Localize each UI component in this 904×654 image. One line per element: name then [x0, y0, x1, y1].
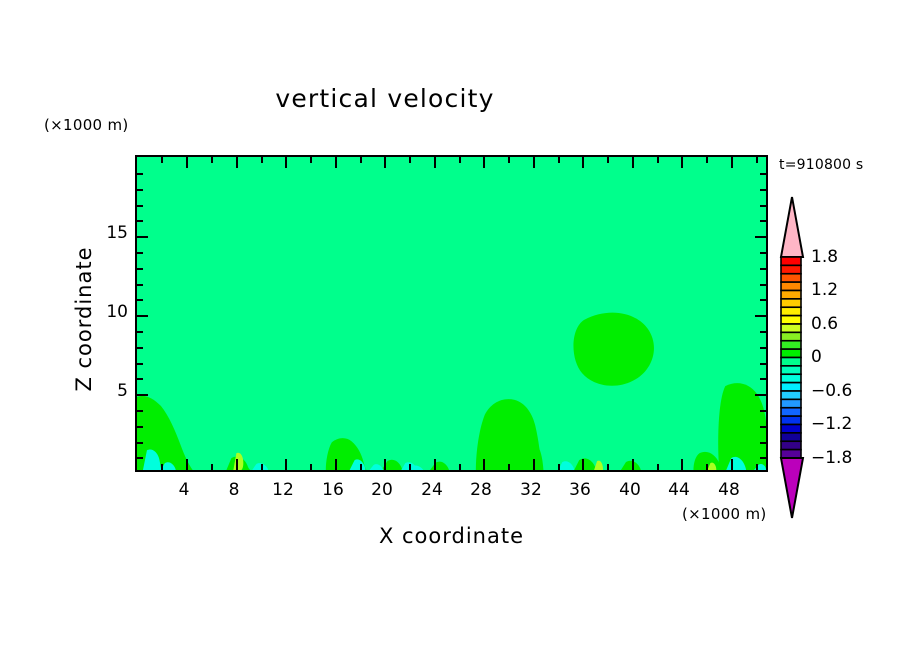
x-tick-major — [335, 459, 337, 470]
x-tick-major — [384, 459, 386, 470]
y-tick-minor — [137, 268, 143, 270]
colorbar-label: 1.8 — [811, 247, 838, 267]
y-tick-minor — [137, 220, 143, 222]
colorbar-swatch — [781, 358, 801, 366]
x-tick-major — [186, 459, 188, 470]
y-tick-minor — [137, 252, 143, 254]
y-tick-right-major — [755, 394, 766, 396]
x-tick-major — [483, 459, 485, 470]
y-tick-right-minor — [760, 378, 766, 380]
x-tick-top-minor — [508, 157, 510, 163]
colorbar-swatch — [781, 408, 801, 416]
y-axis-title: Z coordinate — [72, 189, 96, 449]
contour-field — [137, 157, 766, 470]
x-tick-major — [285, 459, 287, 470]
x-axis-title: X coordinate — [135, 524, 768, 548]
colorbar-swatch — [781, 374, 801, 382]
x-tick-minor — [756, 464, 758, 470]
colorbar-label: −1.8 — [811, 448, 852, 468]
y-tick-right-minor — [760, 252, 766, 254]
x-tick-minor — [706, 464, 708, 470]
y-tick-right-minor — [760, 268, 766, 270]
y-tick-minor — [137, 347, 143, 349]
x-tick-top-major — [186, 157, 188, 168]
colorbar-swatch — [781, 441, 801, 449]
y-tick-minor — [137, 173, 143, 175]
y-tick-major — [137, 236, 148, 238]
colorbar-swatch — [781, 282, 801, 290]
colorbar-swatch — [781, 399, 801, 407]
y-tick-right-minor — [760, 331, 766, 333]
colorbar-label: 1.2 — [811, 280, 838, 300]
y-tick-minor — [137, 205, 143, 207]
colorbar-label: 0 — [811, 347, 822, 367]
plot-area — [135, 155, 768, 472]
x-tick-minor — [657, 464, 659, 470]
y-tick-minor — [137, 426, 143, 428]
x-tick-minor — [607, 464, 609, 470]
x-axis-unit-label: (×1000 m) — [682, 505, 767, 523]
colorbar-swatch — [781, 316, 801, 324]
x-tick-major — [681, 459, 683, 470]
colorbar-swatch — [781, 274, 801, 282]
x-tick-top-major — [582, 157, 584, 168]
colorbar-swatch — [781, 299, 801, 307]
x-tick-top-major — [731, 157, 733, 168]
colorbar-label: −0.6 — [811, 381, 852, 401]
y-tick-right-minor — [760, 410, 766, 412]
x-tick-top-minor — [261, 157, 263, 163]
y-tick-right-major — [755, 315, 766, 317]
y-tick-right-minor — [760, 347, 766, 349]
x-tick-minor — [409, 464, 411, 470]
colorbar-swatch — [781, 450, 801, 458]
x-tick-top-minor — [558, 157, 560, 163]
x-tick-minor — [310, 464, 312, 470]
y-tick-right-minor — [760, 284, 766, 286]
colorbar-swatch — [781, 291, 801, 299]
y-tick-minor — [137, 331, 143, 333]
y-tick-minor — [137, 299, 143, 301]
x-tick-top-minor — [360, 157, 362, 163]
y-tick-major — [137, 315, 148, 317]
colorbar-swatch — [781, 391, 801, 399]
y-tick-minor — [137, 284, 143, 286]
colorbar-swatches — [779, 195, 805, 520]
y-tick-right-minor — [760, 457, 766, 459]
colorbar-swatch — [781, 324, 801, 332]
y-tick-right-minor — [760, 220, 766, 222]
y-tick-minor — [137, 442, 143, 444]
colorbar-swatch — [781, 265, 801, 273]
x-tick-top-major — [483, 157, 485, 168]
x-tick-top-minor — [409, 157, 411, 163]
y-tick-right-minor — [760, 173, 766, 175]
y-tick-right-minor — [760, 205, 766, 207]
colorbar-swatch — [781, 425, 801, 433]
colorbar-swatch — [781, 307, 801, 315]
y-tick-right-minor — [760, 299, 766, 301]
y-tick-major — [137, 394, 148, 396]
colorbar-swatch — [781, 366, 801, 374]
colorbar-swatch — [781, 349, 801, 357]
x-tick-top-minor — [706, 157, 708, 163]
x-tick-minor — [261, 464, 263, 470]
y-tick-right-minor — [760, 426, 766, 428]
colorbar-swatch — [781, 257, 801, 265]
x-tick-top-major — [335, 157, 337, 168]
x-tick-minor — [360, 464, 362, 470]
x-tick-top-minor — [161, 157, 163, 163]
timestamp-label: t=910800 s — [779, 157, 863, 173]
x-tick-label: 48 — [699, 480, 759, 500]
colorbar-swatch — [781, 341, 801, 349]
y-tick-minor — [137, 457, 143, 459]
x-tick-minor — [558, 464, 560, 470]
y-tick-minor — [137, 189, 143, 191]
x-tick-top-major — [285, 157, 287, 168]
x-tick-major — [434, 459, 436, 470]
x-tick-minor — [211, 464, 213, 470]
y-tick-minor — [137, 363, 143, 365]
colorbar-swatch — [781, 416, 801, 424]
x-tick-major — [236, 459, 238, 470]
x-tick-major — [731, 459, 733, 470]
x-tick-top-major — [533, 157, 535, 168]
y-axis-unit-label: (×1000 m) — [44, 116, 129, 134]
y-tick-right-minor — [760, 442, 766, 444]
x-tick-top-major — [681, 157, 683, 168]
x-tick-top-major — [384, 157, 386, 168]
x-tick-top-major — [236, 157, 238, 168]
y-tick-minor — [137, 410, 143, 412]
x-tick-top-minor — [459, 157, 461, 163]
x-tick-minor — [508, 464, 510, 470]
colorbar: 1.8 1.2 0.6 0 −0.6 −1.2 −1.8 — [779, 195, 805, 520]
x-tick-major — [632, 459, 634, 470]
x-tick-major — [533, 459, 535, 470]
x-tick-top-minor — [607, 157, 609, 163]
y-tick-right-minor — [760, 363, 766, 365]
colorbar-label: 0.6 — [811, 314, 838, 334]
colorbar-swatch — [781, 433, 801, 441]
y-tick-minor — [137, 378, 143, 380]
colorbar-swatch — [781, 383, 801, 391]
x-tick-top-major — [434, 157, 436, 168]
x-tick-top-minor — [657, 157, 659, 163]
x-tick-minor — [459, 464, 461, 470]
x-tick-top-minor — [310, 157, 312, 163]
colorbar-label: −1.2 — [811, 414, 852, 434]
y-tick-right-major — [755, 236, 766, 238]
colorbar-swatch — [781, 332, 801, 340]
x-tick-top-major — [632, 157, 634, 168]
x-tick-top-minor — [211, 157, 213, 163]
x-tick-major — [582, 459, 584, 470]
chart-title: vertical velocity — [0, 84, 770, 113]
x-tick-minor — [161, 464, 163, 470]
x-tick-top-minor — [756, 157, 758, 163]
y-tick-right-minor — [760, 189, 766, 191]
